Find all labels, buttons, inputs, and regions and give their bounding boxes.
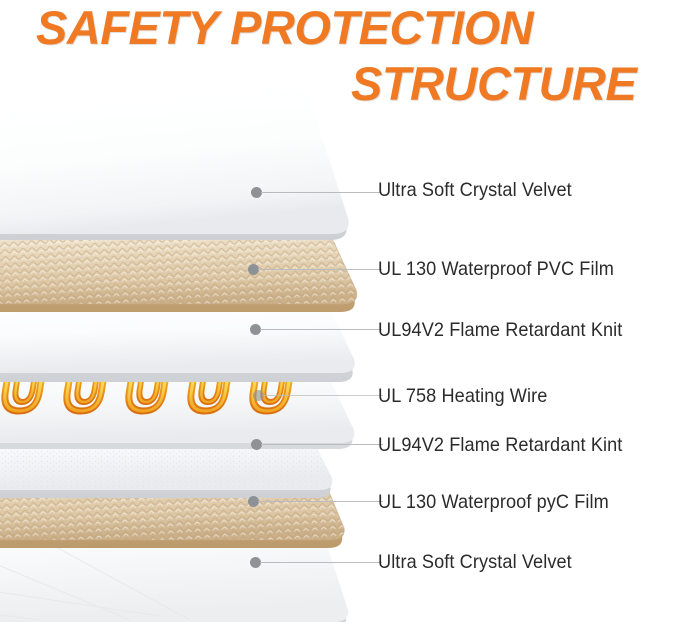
layer-label-4: UL 758 Heating Wire [378, 385, 547, 408]
safety-protection-structure-diagram: Ultra Soft Crystal Velvet UL 130 Waterpr… [0, 0, 679, 622]
layer-label-3: UL94V2 Flame Retardant Knit [378, 319, 622, 342]
layer-label-5: UL94V2 Flame Retardant Kint [378, 434, 622, 457]
layer-label-6: UL 130 Waterproof pyC Film [378, 491, 609, 514]
layer-labels: Ultra Soft Crystal Velvet UL 130 Waterpr… [0, 0, 679, 622]
layer-label-7: Ultra Soft Crystal Velvet [378, 551, 572, 574]
layer-label-2: UL 130 Waterproof PVC Film [378, 258, 614, 281]
layer-label-1: Ultra Soft Crystal Velvet [378, 179, 572, 202]
